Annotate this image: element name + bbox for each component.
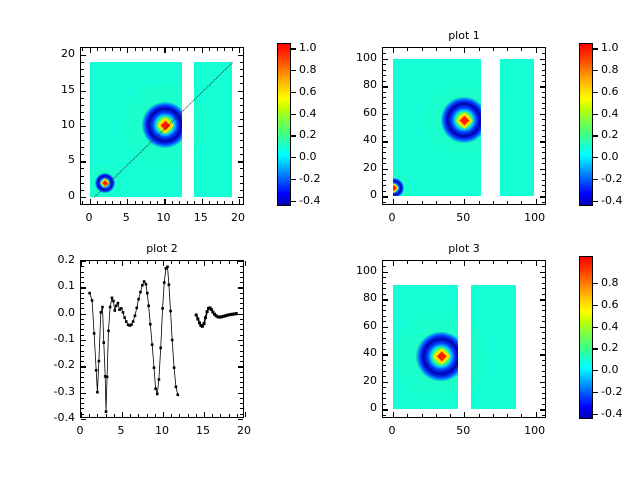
panel-bottom-left-ytick [81,314,86,315]
panel-top-right-ytick-minor [542,53,545,54]
panel-top-left-xtick-minor [120,201,121,204]
panel-bottom-right-colorbar-ticklabel: 0.8 [601,276,619,289]
panel-bottom-left-xtick-minor [220,261,221,264]
panel-bottom-right-halo-0 [471,310,487,402]
panel-bottom-left-marker [107,329,110,332]
panel-bottom-right-colorbar-tick [593,327,598,328]
panel-bottom-left-ytick [238,261,243,262]
panel-bottom-left-ytick-minor [240,356,243,357]
panel-top-left-ytick-minor [240,176,243,177]
panel-top-right-xtick [393,48,394,53]
panel-bottom-right-ytick-minor [542,316,545,317]
panel-bottom-left-marker [101,306,104,309]
panel-bottom-left-ytick-minor [240,398,243,399]
panel-bottom-left-xticklabel: 15 [185,424,221,437]
panel-bottom-left-xticklabel: 0 [62,424,98,437]
panel-bottom-right-ytick-minor [383,349,386,350]
panel-top-left-xtick-minor [172,201,173,204]
panel-bottom-right-colorbar-tick [593,392,598,393]
panel-top-right-xtick [464,48,465,53]
panel-bottom-right-ytick-minor [542,294,545,295]
panel-top-left-overlay-clip [81,48,245,206]
panel-top-left-yticklabel: 5 [38,153,75,166]
panel-bottom-right-xtick-minor [450,414,451,417]
panel-bottom-right-ytick-minor [383,371,386,372]
panel-bottom-right-xtick-minor [436,414,437,417]
panel-bottom-right-ring-peak-0 [416,332,457,382]
panel-bottom-left-ytick-minor [240,282,243,283]
panel-bottom-right-xtick-minor [507,414,508,417]
panel-top-left-yticklabel: 10 [38,118,75,131]
panel-top-left-ytick-minor [81,154,84,155]
panel-bottom-left-marker [93,332,96,335]
panel-bottom-left-marker [161,307,164,310]
panel-top-right-ytick-minor [542,64,545,65]
panel-bottom-left-xtick-minor [229,261,230,264]
panel-bottom-left-marker [96,391,99,394]
panel-top-left-ytick-minor [240,168,243,169]
panel-top-left-ytick-minor [81,190,84,191]
panel-bottom-right-ytick-minor [542,349,545,350]
panel-top-right-ytick-minor [542,158,545,159]
panel-bottom-left-ytick-minor [81,272,84,273]
panel-bottom-left-xtick-minor [97,414,98,417]
panel-bottom-right-ytick-minor [542,338,545,339]
panel-bottom-left-xtick-minor [237,414,238,417]
panel-bottom-right-xticklabel: 0 [374,424,410,437]
panel-top-left-xtick [164,48,165,53]
panel-bottom-right-yticklabel: 60 [340,319,377,332]
panel-top-right-ytick-minor [383,81,386,82]
panel-bottom-left-xtick-minor [188,414,189,417]
panel-bottom-right-ytick-minor [542,343,545,344]
panel-top-left-xtick-minor [135,48,136,51]
panel-top-left-yticklabel: 15 [38,83,75,96]
panel-bottom-left-marker [173,366,176,369]
panel-bottom-left-ytick-minor [240,351,243,352]
panel-bottom-right-xtick [536,412,537,417]
panel-bottom-left-ytick-minor [240,403,243,404]
panel-top-right-xtick-minor [493,48,494,51]
panel-bottom-left-ytick [238,340,243,341]
panel-top-left-ytick-minor [240,119,243,120]
panel-top-left-xtick [202,199,203,204]
panel-top-left-yticklabel: 0 [38,189,75,202]
panel-bottom-right-ytick-minor [542,360,545,361]
panel-bottom-right-ytick-minor [542,266,545,267]
panel-top-left-ytick [238,197,243,198]
panel-top-right-axes [382,47,546,205]
panel-top-left-xtick-minor [232,48,233,51]
panel-bottom-left-xtick [204,412,205,417]
panel-top-right-colorbar-tick [593,201,598,202]
panel-bottom-left-marker [203,322,206,325]
panel-bottom-left-marker [143,280,146,283]
panel-bottom-right-yticklabel: 20 [340,374,377,387]
panel-top-right-ytick-minor [542,119,545,120]
panel-top-right-xtick-minor [407,201,408,204]
panel-bottom-right-ytick-minor [542,321,545,322]
panel-top-right-colorbar-tick [593,157,598,158]
panel-bottom-left-ytick [81,340,86,341]
panel-top-left-ytick-minor [81,168,84,169]
panel-bottom-left-ytick-minor [81,377,84,378]
panel-bottom-left-marker [153,366,156,369]
panel-top-right-ytick [540,86,545,87]
panel-top-right-ytick-minor [383,119,386,120]
panel-top-left-colorbar-tick [291,201,296,202]
panel-bottom-right-patch-1 [471,285,515,409]
panel-top-right-ytick-minor [542,202,545,203]
panel-top-right-xtick-minor [507,201,508,204]
panel-bottom-right-xtick-minor [422,261,423,264]
panel-top-left-xtick [164,199,165,204]
panel-bottom-right-ytick [540,354,545,355]
panel-top-left-xtick-minor [157,201,158,204]
panel-bottom-right-ytick-minor [383,376,386,377]
panel-top-left-xticklabel: 20 [220,211,256,224]
panel-top-right-ytick [540,114,545,115]
panel-bottom-left-ytick-minor [81,329,84,330]
panel-top-right-ytick-minor [542,191,545,192]
panel-bottom-right-ytick-minor [383,338,386,339]
panel-top-right-xtick [536,199,537,204]
panel-bottom-left-ytick-minor [240,303,243,304]
panel-bottom-left-marker [175,386,178,389]
panel-bottom-left-xtick-minor [171,261,172,264]
panel-bottom-right-ytick [540,382,545,383]
figure-canvas: 0510152005101520-0.4-0.20.00.20.40.60.81… [0,0,640,480]
panel-bottom-left-ytick-minor [81,345,84,346]
panel-top-left-colorbar [277,43,291,206]
panel-bottom-right-ytick-minor [542,398,545,399]
panel-bottom-right-colorbar-ticklabel: -0.4 [601,407,622,420]
panel-bottom-right-xticklabel: 100 [517,424,553,437]
panel-top-left-xtick-minor [105,48,106,51]
panel-top-right-xtick [393,199,394,204]
panel-bottom-left-ytick [81,419,86,420]
panel-top-left-ytick-minor [240,105,243,106]
panel-top-left-ytick-minor [81,183,84,184]
panel-bottom-right-ytick-minor [383,288,386,289]
panel-top-left-ytick-minor [81,76,84,77]
panel-bottom-right-ytick [383,354,388,355]
panel-top-left-ytick-minor [81,204,84,205]
panel-top-left-ytick-minor [81,105,84,106]
panel-top-right-ytick-minor [542,130,545,131]
panel-top-right-xtick-minor [436,201,437,204]
panel-top-left-ytick-minor [81,98,84,99]
panel-top-left-xtick-minor [97,201,98,204]
panel-top-right-ytick-minor [542,75,545,76]
panel-top-left-axes [80,47,244,205]
panel-top-right-colorbar-ticklabel: 0.6 [601,85,619,98]
panel-bottom-right-ytick-minor [383,415,386,416]
panel-top-left-diagonal-line [94,62,233,197]
panel-bottom-left-marker [201,325,204,328]
panel-bottom-left-xtick-minor [114,414,115,417]
panel-bottom-right-xticklabel: 50 [445,424,481,437]
panel-top-left-ytick-minor [81,176,84,177]
panel-bottom-right-axes [382,260,546,418]
panel-bottom-right-colorbar [579,256,593,419]
panel-top-right-ytick-minor [383,191,386,192]
panel-bottom-right-ytick-minor [383,283,386,284]
panel-bottom-left-xtick-minor [179,261,180,264]
panel-bottom-right-xtick-minor [479,261,480,264]
panel-bottom-left-title: plot 2 [80,242,244,255]
panel-bottom-left-ytick-minor [81,324,84,325]
panel-bottom-right-yticklabel: 80 [340,291,377,304]
panel-bottom-left-xtick [122,412,123,417]
panel-top-left-ytick [81,91,86,92]
panel-top-left-xtick-minor [217,48,218,51]
panel-bottom-left-ytick [81,393,86,394]
panel-bottom-left-marker [210,308,213,311]
panel-bottom-right-ytick-minor [383,332,386,333]
panel-top-left-colorbar-ticklabel: 0.0 [299,150,317,163]
panel-top-right-xtick [536,48,537,53]
panel-top-right-colorbar-ticklabel: 0.8 [601,63,619,76]
panel-bottom-right-yticklabel: 0 [340,401,377,414]
panel-bottom-left-xtick [204,261,205,266]
panel-bottom-left-xtick-minor [89,414,90,417]
panel-bottom-left-xticklabel: 10 [144,424,180,437]
panel-bottom-left-ytick [238,393,243,394]
panel-bottom-right-ytick [383,299,388,300]
panel-bottom-left-marker [135,307,138,310]
panel-top-right-ytick [383,196,388,197]
panel-top-left-xtick-minor [179,201,180,204]
panel-bottom-left-marker [206,310,209,313]
panel-top-right-colorbar-tick [593,70,598,71]
panel-top-left-ytick [238,55,243,56]
panel-bottom-left-marker [122,311,125,314]
panel-top-right-xtick-minor [507,48,508,51]
panel-top-left-xtick [127,199,128,204]
panel-top-right-ytick-minor [383,174,386,175]
panel-top-left-ytick-minor [240,154,243,155]
panel-bottom-right-ytick-minor [542,404,545,405]
panel-bottom-left-marker [112,300,115,303]
panel-bottom-right-colorbar-ticklabel: 0.2 [601,341,619,354]
panel-top-left-xticklabel: 5 [108,211,144,224]
panel-bottom-left-yticklabel: 0.0 [38,306,75,319]
panel-bottom-left-ytick-minor [240,361,243,362]
panel-top-left-ytick-minor [81,83,84,84]
panel-top-right-ytick-minor [542,108,545,109]
panel-bottom-left-marker [158,378,161,381]
panel-bottom-left-marker [166,265,169,268]
panel-top-left-ytick-minor [240,133,243,134]
panel-bottom-left-ytick-minor [81,319,84,320]
panel-bottom-left-xtick-minor [89,261,90,264]
panel-top-right-ytick-minor [383,75,386,76]
panel-bottom-right-ytick-minor [542,393,545,394]
panel-top-left-xticklabel: 0 [71,211,107,224]
panel-bottom-right-ytick-minor [383,310,386,311]
panel-top-left-xtick-minor [224,48,225,51]
panel-top-left-xtick [239,48,240,53]
panel-bottom-right-title: plot 3 [382,242,546,255]
panel-top-left-xtick [202,48,203,53]
panel-bottom-left-marker [198,321,201,324]
panel-top-left-colorbar-ticklabel: 0.6 [299,85,317,98]
panel-bottom-right-xtick-minor [407,261,408,264]
panel-top-right-yticklabel: 40 [340,133,377,146]
panel-bottom-right-xtick [393,261,394,266]
panel-top-right-xtick-minor [521,48,522,51]
panel-bottom-left-marker [130,323,133,326]
panel-top-left-ytick-minor [240,147,243,148]
panel-bottom-left-marker [151,343,154,346]
panel-bottom-right-ytick [540,409,545,410]
panel-bottom-left-xtick [122,261,123,266]
panel-bottom-left-ytick-minor [240,377,243,378]
panel-top-left-colorbar-tick [291,135,296,136]
panel-top-right-ytick-minor [383,180,386,181]
panel-bottom-right-yticklabel: 100 [340,264,377,277]
panel-bottom-left-marker [123,316,126,319]
panel-top-left-xtick-minor [112,201,113,204]
panel-bottom-left-ytick-minor [81,382,84,383]
panel-top-right-xtick-minor [479,201,480,204]
panel-bottom-left-marker [105,410,108,413]
panel-bottom-right-ytick-minor [383,321,386,322]
panel-top-right-ytick-minor [383,136,386,137]
panel-top-left-colorbar-tick [291,48,296,49]
panel-bottom-right-ytick-minor [542,305,545,306]
panel-bottom-right-ytick-minor [542,288,545,289]
panel-bottom-left-ytick-minor [240,277,243,278]
panel-top-left-xtick-minor [187,48,188,51]
panel-bottom-right-xtick [464,412,465,417]
panel-bottom-left-marker [115,304,118,307]
panel-bottom-left-ytick-minor [240,387,243,388]
panel-top-left-colorbar-ticklabel: -0.2 [299,172,320,185]
panel-top-left-xtick-minor [150,48,151,51]
panel-bottom-left-xtick-minor [106,414,107,417]
panel-bottom-right-ytick-minor [383,398,386,399]
panel-bottom-right-xtick-minor [493,261,494,264]
panel-bottom-left-marker [169,310,172,313]
panel-top-left-xtick-minor [82,48,83,51]
panel-bottom-right-ytick-minor [383,277,386,278]
panel-top-right-colorbar-tick [593,179,598,180]
panel-bottom-left-xticklabel: 5 [103,424,139,437]
panel-bottom-right-colorbar-ticklabel: -0.2 [601,385,622,398]
panel-bottom-left-marker [100,311,103,314]
panel-bottom-left-yticklabel: 0.1 [38,279,75,292]
panel-top-left-xticklabel: 15 [183,211,219,224]
panel-top-right-colorbar-ticklabel: -0.2 [601,172,622,185]
panel-top-right-xtick-minor [436,48,437,51]
panel-top-right-ytick-minor [383,163,386,164]
panel-top-left-xtick-minor [135,201,136,204]
panel-bottom-left-ytick-minor [81,361,84,362]
panel-top-right-title: plot 1 [382,29,546,42]
panel-top-right-ytick-minor [542,180,545,181]
panel-top-left-xtick [90,199,91,204]
panel-bottom-left-xtick-minor [179,414,180,417]
panel-top-left-xtick-minor [224,201,225,204]
panel-bottom-right-ytick-minor [542,277,545,278]
panel-bottom-left-yticklabel: 0.2 [38,253,75,266]
panel-bottom-left-ytick [81,287,86,288]
panel-bottom-left-xtick [245,261,246,266]
panel-bottom-right-ytick-minor [383,393,386,394]
panel-top-right-ytick-minor [383,70,386,71]
panel-top-right-xticklabel: 100 [517,211,553,224]
panel-top-right-ytick-minor [542,81,545,82]
panel-bottom-left-marker [98,360,101,363]
panel-top-left-ytick-minor [240,140,243,141]
panel-bottom-left-ytick-minor [81,266,84,267]
panel-bottom-left-ytick-minor [81,351,84,352]
panel-top-left-ytick-minor [81,69,84,70]
panel-top-left-ytick-minor [81,119,84,120]
panel-bottom-left-ytick-minor [81,398,84,399]
panel-bottom-right-ytick [383,382,388,383]
panel-bottom-left-marker [147,304,150,307]
panel-bottom-left-xtick [245,412,246,417]
panel-bottom-left-marker [103,341,106,344]
panel-bottom-left-ytick-minor [240,414,243,415]
panel-top-left-xtick-minor [157,48,158,51]
panel-bottom-left-xtick-minor [196,261,197,264]
panel-bottom-left-marker [137,298,140,301]
panel-bottom-left-marker [111,297,114,300]
panel-bottom-right-ytick-minor [383,387,386,388]
panel-bottom-left-ytick-minor [81,408,84,409]
panel-top-right-ytick-minor [542,136,545,137]
panel-bottom-right-colorbar-ticklabel: 0.4 [601,320,619,333]
panel-bottom-left-xtick-minor [138,261,139,264]
panel-bottom-left-xtick-minor [138,414,139,417]
panel-bottom-left-ytick-minor [81,277,84,278]
panel-bottom-left-ytick-minor [240,324,243,325]
panel-bottom-right-colorbar-tick [593,414,598,415]
panel-bottom-right-colorbar-tick [593,370,598,371]
panel-bottom-right-colorbar-tick [593,348,598,349]
panel-bottom-left-yticklabel: -0.3 [38,385,75,398]
panel-top-left-ytick-minor [81,147,84,148]
panel-bottom-right-ytick-minor [383,266,386,267]
panel-top-right-ytick-minor [383,125,386,126]
panel-bottom-left-xtick-minor [196,414,197,417]
panel-top-left-xtick-minor [142,48,143,51]
panel-top-left-ytick-minor [240,183,243,184]
panel-top-left-ytick [238,161,243,162]
panel-top-right-xtick-minor [422,48,423,51]
panel-bottom-left-marker [106,376,109,379]
panel-top-left-xticklabel: 10 [145,211,181,224]
panel-bottom-right-yticklabel: 40 [340,346,377,359]
panel-bottom-right-ytick-minor [542,376,545,377]
panel-bottom-right-ytick-minor [542,310,545,311]
panel-bottom-right-ytick-minor [383,294,386,295]
panel-top-left-xtick-minor [194,201,195,204]
panel-top-left-ytick [81,55,86,56]
panel-bottom-left-xtick-minor [130,414,131,417]
panel-top-left-colorbar-ticklabel: 0.4 [299,107,317,120]
panel-bottom-right-xtick [393,412,394,417]
panel-top-right-ring-peak-0 [441,97,481,143]
panel-bottom-left-ytick-minor [240,382,243,383]
panel-top-left-xtick-minor [97,48,98,51]
panel-bottom-left-marker [113,309,116,312]
panel-bottom-left-yticklabel: -0.4 [38,411,75,424]
